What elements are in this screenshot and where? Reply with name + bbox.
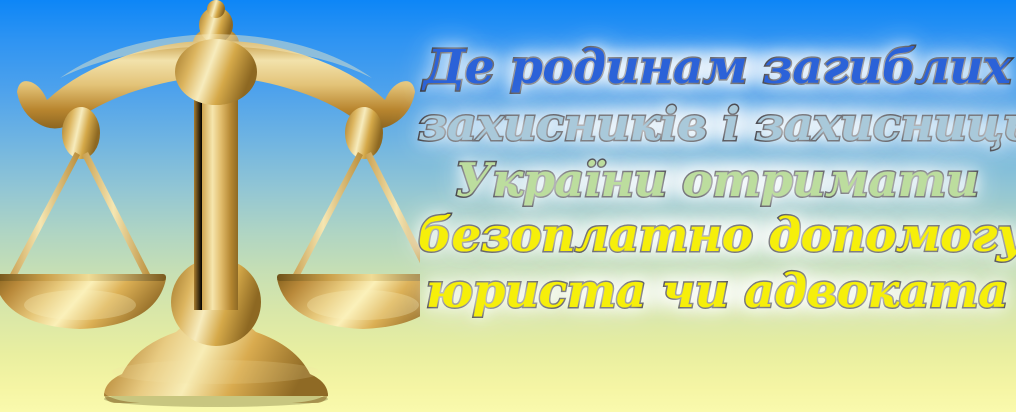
headline-line-4: безоплатно допомогу	[418, 208, 1016, 264]
headline-line-4-wrap: безоплатно допомогу	[418, 208, 1016, 264]
beam-center-boss	[175, 39, 257, 105]
scales-of-justice-icon	[0, 0, 420, 412]
headline-text-block: Де родинам загиблих захисників і захисни…	[418, 40, 1016, 340]
scale-post	[194, 72, 238, 310]
headline-line-1: Де родинам загиблих	[418, 40, 1016, 96]
headline-line-3-wrap: України отримати	[418, 152, 1016, 208]
left-scale-pan	[0, 274, 166, 329]
headline-line-2: захисників і захисниць	[418, 96, 1016, 152]
left-pan-cords	[8, 152, 152, 281]
headline-line-5-wrap: юриста чи адвоката	[418, 264, 1016, 320]
headline-line-1-wrap: Де родинам загиблих	[418, 40, 1016, 96]
justice-legal-aid-banner: Де родинам загиблих захисників і захисни…	[0, 0, 1016, 412]
right-pan-cords	[291, 152, 420, 281]
right-pivot-knob	[345, 107, 383, 159]
scales-of-justice-illustration	[0, 0, 420, 412]
headline-line-5: юриста чи адвоката	[418, 264, 1016, 320]
right-scale-pan	[277, 274, 420, 329]
headline-line-3: України отримати	[418, 152, 1016, 208]
headline-line-2-wrap: захисників і захисниць	[418, 96, 1016, 152]
left-pivot-knob	[62, 107, 100, 159]
